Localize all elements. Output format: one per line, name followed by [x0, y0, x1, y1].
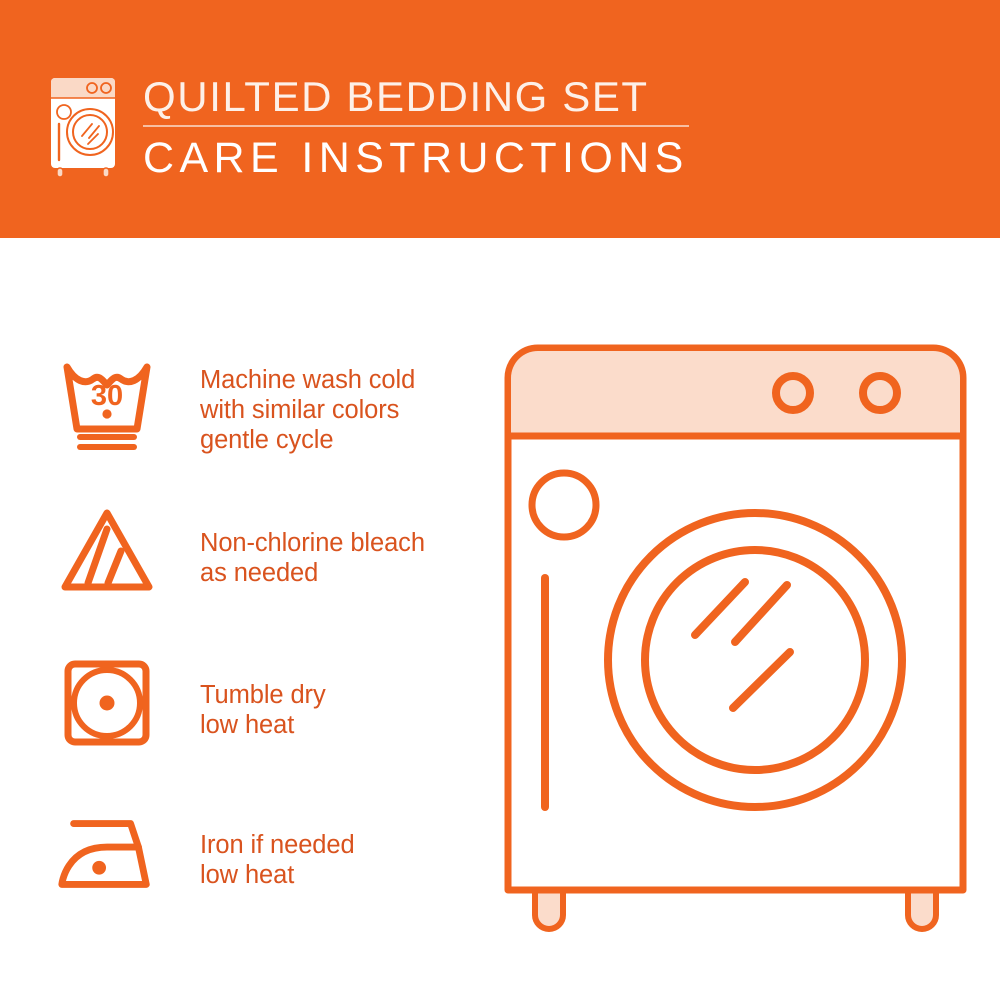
care-row-wash: 30 Machine wash cold with similar colors…	[0, 348, 470, 468]
care-text-line: Tumble dry	[200, 680, 326, 710]
care-text-tumble-dry: Tumble dry low heat	[200, 680, 326, 740]
tumble-dry-icon	[52, 648, 162, 758]
care-instruction-list: 30 Machine wash cold with similar colors…	[0, 238, 500, 1000]
control-knob-1	[776, 376, 810, 410]
care-text-line: low heat	[200, 860, 355, 890]
care-text-line: low heat	[200, 710, 326, 740]
iron-icon	[52, 798, 162, 908]
care-row-bleach: Non-chlorine bleach as needed	[0, 496, 470, 616]
washing-machine-icon	[46, 74, 120, 178]
page-title: QUILTED BEDDING SET	[143, 74, 703, 120]
care-text-iron: Iron if needed low heat	[200, 830, 355, 890]
care-text-line: Non-chlorine bleach	[200, 528, 425, 558]
wash-temperature-label: 30	[91, 380, 123, 412]
care-instructions-page: QUILTED BEDDING SET CARE INSTRUCTIONS 30	[0, 0, 1000, 1000]
care-text-bleach: Non-chlorine bleach as needed	[200, 528, 425, 588]
header-title-block: QUILTED BEDDING SET CARE INSTRUCTIONS	[143, 74, 703, 183]
title-divider	[143, 125, 689, 127]
care-text-line: gentle cycle	[200, 425, 415, 455]
washing-machine-illustration	[490, 330, 980, 940]
care-text-line: as needed	[200, 558, 425, 588]
care-text-line: Iron if needed	[200, 830, 355, 860]
bleach-triangle-icon	[52, 496, 162, 606]
care-row-iron: Iron if needed low heat	[0, 798, 470, 918]
care-row-tumble-dry: Tumble dry low heat	[0, 648, 470, 768]
header-banner: QUILTED BEDDING SET CARE INSTRUCTIONS	[0, 0, 1000, 238]
page-subtitle: CARE INSTRUCTIONS	[143, 133, 703, 183]
control-knob-2	[863, 376, 897, 410]
care-text-line: Machine wash cold	[200, 365, 415, 395]
care-text-wash: Machine wash cold with similar colors ge…	[200, 365, 415, 455]
wash-tub-icon: 30	[52, 348, 162, 458]
care-text-line: with similar colors	[200, 395, 415, 425]
